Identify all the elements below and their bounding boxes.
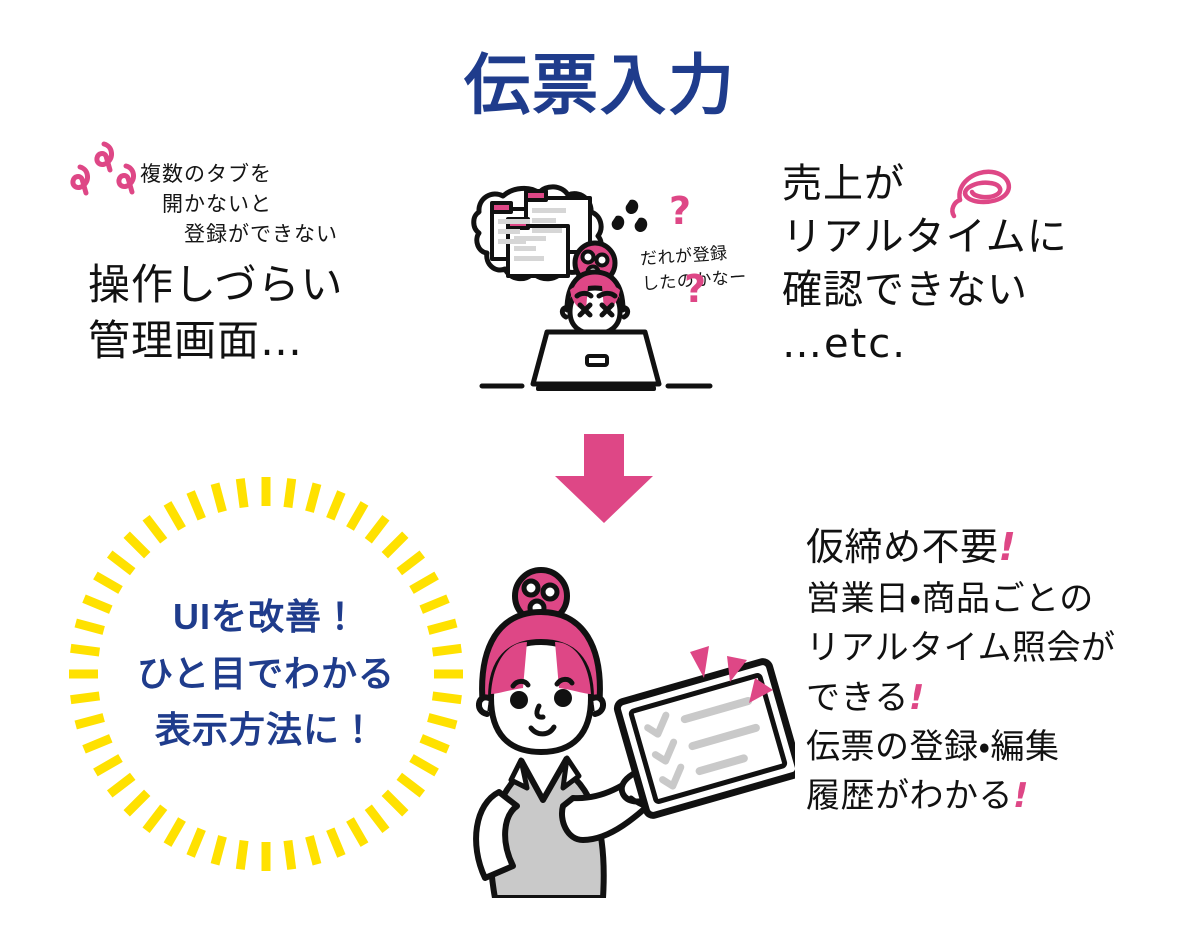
question-mark-icon-bottom: ? <box>684 270 706 308</box>
benefit-text: 仮締め不要 <box>806 525 999 569</box>
benefit-list: 仮締め不要! 営業日・商品ごとの リアルタイム照会が できる! 伝票の登録・編集… <box>806 520 1200 822</box>
benefit-text: リアルタイム照会が <box>806 628 1115 668</box>
page-title: 伝票入力 <box>0 52 1200 118</box>
problem-left-big-line-1: 操作しづらい <box>88 257 418 312</box>
badge-line-2: ひと目でわかる <box>137 646 395 703</box>
problem-left-block: 複数のタブを 開かないと 登録ができない 操作しづらい 管理画面… <box>88 160 418 368</box>
benefit-item: 伝票の登録・編集 <box>806 723 1200 772</box>
benefit-bang: ! <box>1013 776 1029 816</box>
problem-right-line-2: リアルタイムに <box>782 211 1182 264</box>
benefit-text: 営業日・商品ごとの <box>806 579 1094 619</box>
improvement-badge: UIを改善！ ひと目でわかる 表示方法に！ <box>56 462 476 886</box>
badge-line-1: UIを改善！ <box>173 589 359 646</box>
poster-canvas: 伝票入力 複数のタブを 開かないと 登録ができない 操作しづらい 管理画面… <box>0 0 1200 934</box>
problem-right-block: 売上が リアルタイムに 確認できない …etc. <box>782 158 1182 371</box>
problem-left-big-text: 操作しづらい 管理画面… <box>88 257 418 368</box>
benefit-item: 営業日・商品ごとの <box>806 575 1200 624</box>
down-arrow-icon <box>538 428 670 533</box>
problem-left-big-line-2: 管理画面… <box>88 313 418 368</box>
benefit-item: リアルタイム照会が <box>806 624 1200 673</box>
benefit-item: できる! <box>806 674 1200 723</box>
problem-right-line-4: …etc. <box>782 318 1182 371</box>
problem-left-small-line-3: 登録ができない <box>88 220 418 250</box>
benefit-text: できる <box>806 678 909 718</box>
badge-text-block: UIを改善！ ひと目でわかる 表示方法に！ <box>56 462 476 886</box>
problem-left-small-line-2: 開かないと <box>88 190 418 220</box>
happy-woman-illustration <box>455 548 795 903</box>
benefit-text: 履歴がわかる <box>806 776 1013 816</box>
benefit-bang: ! <box>999 525 1017 569</box>
benefit-bang: ! <box>909 678 925 718</box>
problem-right-line-1: 売上が <box>782 158 1182 211</box>
problem-left-small-line-1: 複数のタブを <box>88 160 418 190</box>
question-mark-icon-top: ? <box>669 192 691 230</box>
badge-line-3: 表示方法に！ <box>155 702 377 759</box>
benefit-text: 伝票の登録・編集 <box>806 727 1060 767</box>
problem-left-small-text: 複数のタブを 開かないと 登録ができない <box>88 160 418 249</box>
benefit-item: 仮締め不要! <box>806 520 1200 575</box>
problem-right-line-3: 確認できない <box>782 264 1182 317</box>
benefit-item: 履歴がわかる! <box>806 772 1200 821</box>
